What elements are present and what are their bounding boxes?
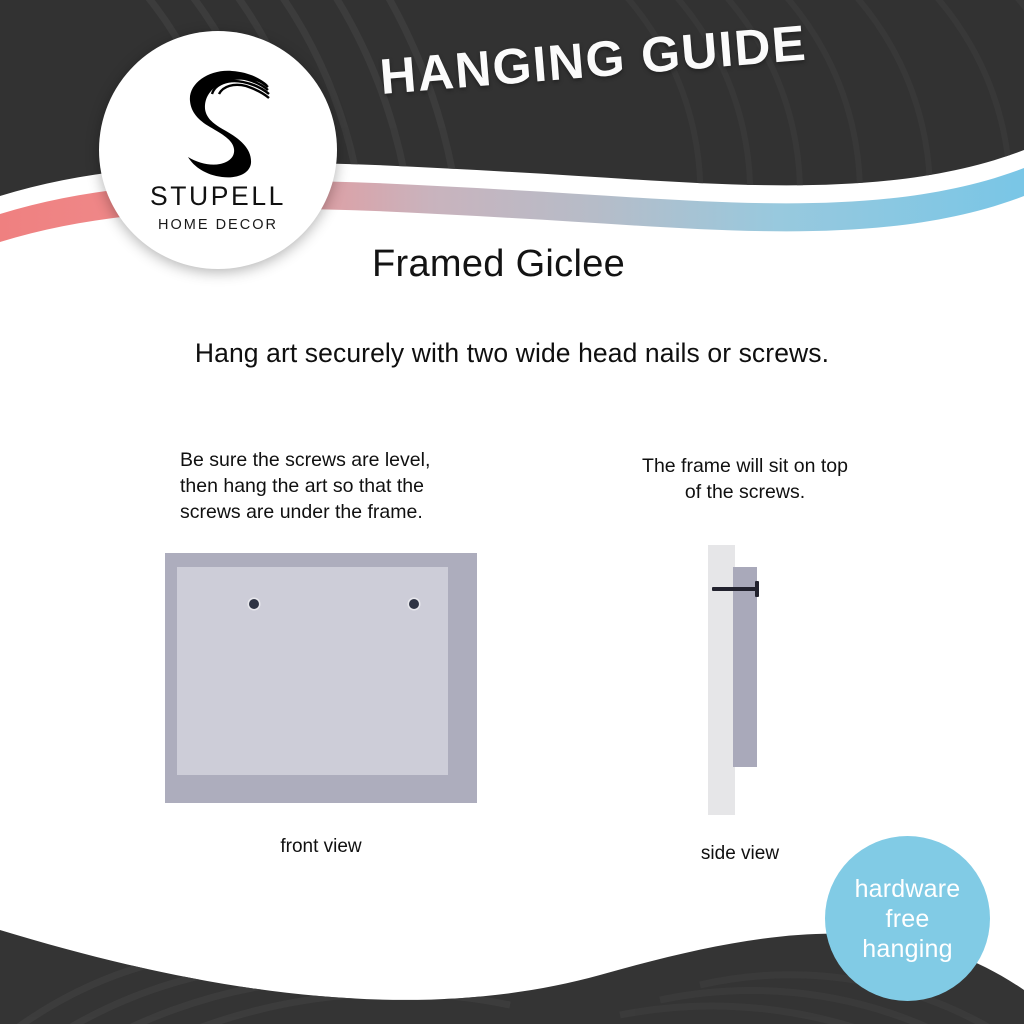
stupell-logo-badge: STUPELL HOME DECOR [99, 31, 337, 269]
badge-line-3: hanging [862, 934, 952, 964]
front-view-caption-line-3: screws are under the frame. [180, 499, 470, 525]
front-view-diagram [165, 553, 477, 803]
hardware-free-hanging-badge: hardware free hanging [825, 836, 990, 1001]
side-view-label: side view [650, 843, 830, 865]
front-view-caption: Be sure the screws are level, then hang … [180, 447, 470, 525]
nail-shaft-icon [712, 587, 759, 591]
screw-dot-left [249, 599, 259, 609]
side-view-frame [733, 567, 757, 767]
front-view-art-panel [177, 567, 448, 775]
page-title: HANGING GUIDE [378, 14, 809, 106]
badge-line-1: hardware [855, 874, 961, 904]
badge-line-2: free [886, 904, 930, 934]
hanging-guide-page: STUPELL HOME DECOR HANGING GUIDE Framed … [0, 0, 1024, 1024]
front-view-caption-line-2: then hang the art so that the [180, 473, 470, 499]
side-view-caption-line-1: The frame will sit on top [600, 453, 890, 479]
side-view-caption: The frame will sit on top of the screws. [600, 453, 890, 505]
nail-head-icon [755, 581, 759, 597]
screw-dot-right [409, 599, 419, 609]
front-view-caption-line-1: Be sure the screws are level, [180, 447, 470, 473]
side-view-wall [708, 545, 735, 815]
side-view-diagram [695, 545, 785, 815]
main-instruction-text: Hang art securely with two wide head nai… [0, 338, 1024, 369]
logo-wordmark: STUPELL [150, 181, 286, 212]
side-view-caption-line-2: of the screws. [600, 479, 890, 505]
product-type-title: Framed Giclee [372, 243, 625, 286]
front-view-label: front view [165, 836, 477, 858]
logo-tagline: HOME DECOR [158, 217, 278, 233]
stupell-swoosh-icon [158, 61, 278, 179]
